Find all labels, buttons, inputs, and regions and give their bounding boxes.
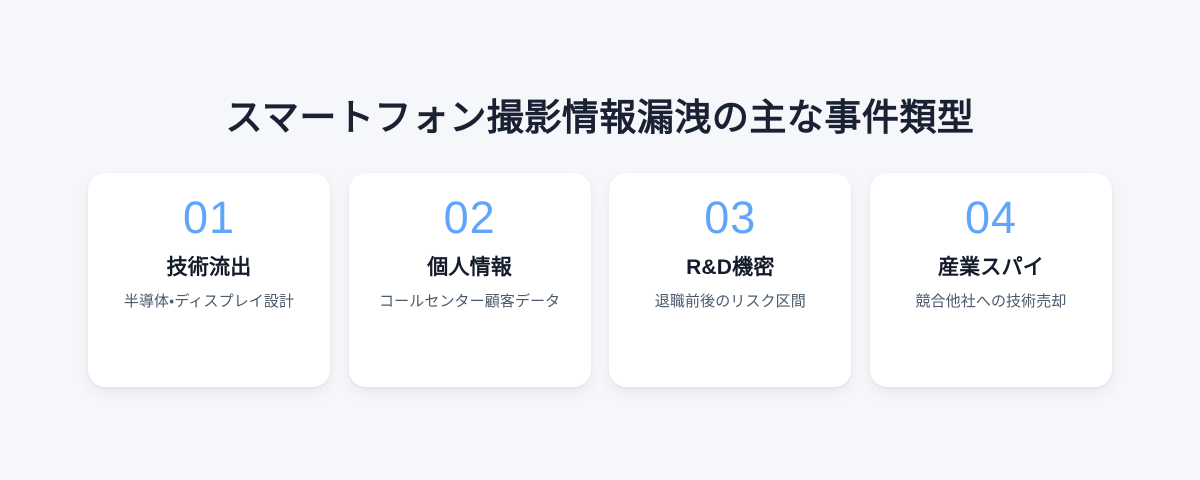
card-description-02: コールセンター顧客データ: [379, 291, 560, 313]
page-title: スマートフォン撮影情報漏洩の主な事件類型: [226, 99, 975, 136]
card-number-02: 02: [444, 194, 496, 242]
category-card-01[interactable]: 01 技術流出 半導体・ディスプレイ設計: [88, 173, 330, 387]
card-heading-04: 産業スパイ: [938, 255, 1044, 280]
card-number-01: 01: [183, 194, 235, 242]
card-number-04: 04: [965, 194, 1017, 242]
category-card-row: 01 技術流出 半導体・ディスプレイ設計 02 個人情報 コールセンター顧客デー…: [88, 173, 1112, 387]
card-description-03: 退職前後のリスク区間: [655, 291, 806, 313]
category-card-03[interactable]: 03 R&D機密 退職前後のリスク区間: [609, 173, 851, 387]
card-description-01: 半導体・ディスプレイ設計: [124, 291, 294, 313]
card-number-03: 03: [704, 194, 756, 242]
card-heading-01: 技術流出: [167, 255, 252, 280]
card-heading-03: R&D機密: [686, 255, 775, 280]
card-description-04: 競合他社への技術売却: [915, 291, 1066, 313]
card-heading-02: 個人情報: [427, 255, 512, 280]
category-card-02[interactable]: 02 個人情報 コールセンター顧客データ: [349, 173, 591, 387]
infographic-page: スマートフォン撮影情報漏洩の主な事件類型 01 技術流出 半導体・ディスプレイ設…: [0, 0, 1200, 480]
category-card-04[interactable]: 04 産業スパイ 競合他社への技術売却: [870, 173, 1112, 387]
